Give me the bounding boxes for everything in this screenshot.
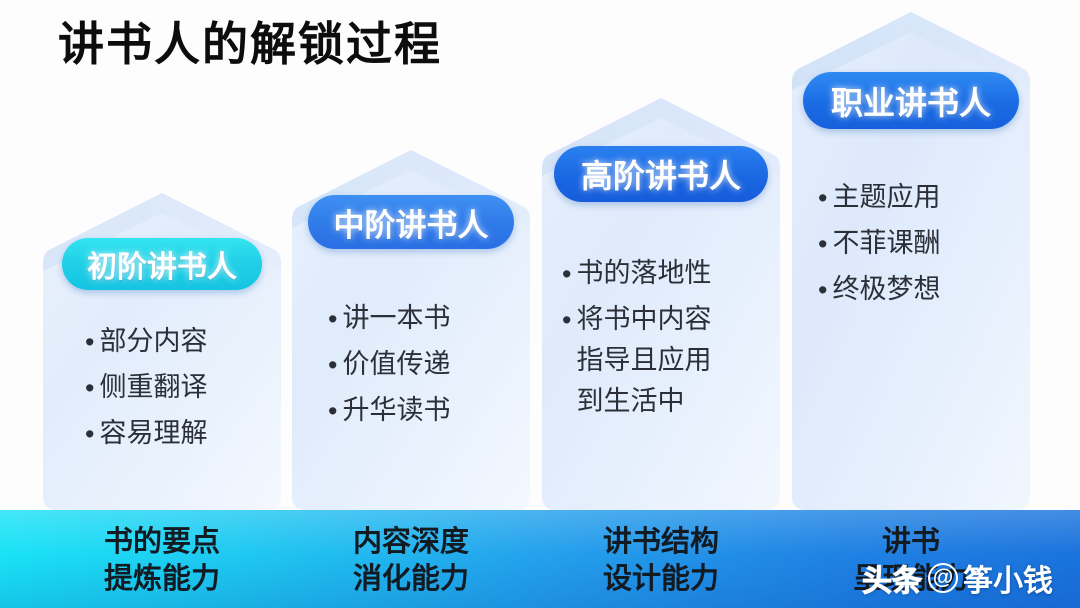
pillar-bullets-2: • 讲一本书 • 价值传递 • 升华读书	[292, 298, 530, 436]
pillar-column-4: 职业讲书人 • 主题应用 • 不菲课酬 • 终极梦想	[792, 12, 1030, 510]
pillar-column-3: 高阶讲书人 • 书的落地性 • 将书中内容 指导且应用 到生活中	[542, 98, 780, 510]
bullet-marker-icon: •	[85, 368, 94, 409]
bullet-text: 讲一本书	[342, 298, 514, 339]
bullet-text: 终极梦想	[832, 269, 1018, 310]
bullet-marker-icon: •	[562, 300, 571, 341]
pillar-badge-label-3: 高阶讲书人	[581, 151, 741, 197]
footer-line-2: 提炼能力	[37, 561, 287, 598]
pillar-badge-label-1: 初阶讲书人	[87, 242, 237, 286]
bullet-text: 升华读书	[342, 390, 514, 431]
pillar-badge-2[interactable]: 中阶讲书人	[308, 195, 514, 249]
list-item: • 终极梦想	[818, 269, 1018, 311]
pillar-badge-4[interactable]: 职业讲书人	[803, 72, 1019, 129]
bullet-text: 不菲课酬	[832, 223, 1018, 264]
toutiao-logo-icon: 头条	[862, 556, 922, 600]
pillar-badge-label-2: 中阶讲书人	[334, 200, 489, 245]
bullet-marker-icon: •	[818, 224, 827, 265]
list-item: • 书的落地性	[562, 253, 770, 295]
list-item: • 讲一本书	[328, 298, 514, 340]
footer-line-1: 书的要点	[37, 524, 287, 561]
footer-line-2: 消化能力	[286, 561, 536, 598]
bullet-text: 价值传递	[342, 344, 514, 385]
pillar-column-1: 初阶讲书人 • 部分内容 • 侧重翻译 • 容易理解	[43, 193, 281, 510]
footer-cell-3: 讲书结构 设计能力	[536, 524, 786, 597]
list-item: • 侧重翻译	[85, 367, 265, 409]
list-item: • 将书中内容 指导且应用 到生活中	[562, 299, 770, 422]
footer-line-1: 讲书结构	[536, 524, 786, 561]
list-item: • 价值传递	[328, 344, 514, 386]
pillar-bullets-4: • 主题应用 • 不菲课酬 • 终极梦想	[792, 177, 1030, 315]
list-item: • 容易理解	[85, 413, 265, 455]
bullet-marker-icon: •	[818, 178, 827, 219]
pillar-badge-1[interactable]: 初阶讲书人	[62, 238, 262, 290]
page-title: 讲书人的解锁过程	[58, 18, 442, 71]
bullet-text: 部分内容	[99, 321, 265, 362]
bullet-marker-icon: •	[85, 414, 94, 455]
bullet-marker-icon: •	[328, 345, 337, 386]
bullet-text: 侧重翻译	[99, 367, 265, 408]
at-symbol-icon: @	[928, 563, 958, 593]
bullet-text: 主题应用	[832, 177, 1018, 218]
bullet-marker-icon: •	[85, 322, 94, 363]
pillar-badge-3[interactable]: 高阶讲书人	[554, 146, 768, 202]
pillar-column-2: 中阶讲书人 • 讲一本书 • 价值传递 • 升华读书	[292, 150, 530, 510]
list-item: • 部分内容	[85, 321, 265, 363]
list-item: • 不菲课酬	[818, 223, 1018, 265]
pillar-bullets-3: • 书的落地性 • 将书中内容 指导且应用 到生活中	[542, 253, 780, 426]
footer-line-2: 设计能力	[536, 561, 786, 598]
slide-canvas: 讲书人的解锁过程	[0, 0, 1080, 608]
bullet-marker-icon: •	[562, 254, 571, 295]
bullet-marker-icon: •	[328, 299, 337, 340]
list-item: • 升华读书	[328, 390, 514, 432]
bullet-marker-icon: •	[328, 391, 337, 432]
bullet-marker-icon: •	[818, 270, 827, 311]
footer-cell-1: 书的要点 提炼能力	[37, 524, 287, 597]
bullet-text: 书的落地性	[576, 253, 770, 294]
pillar-badge-label-4: 职业讲书人	[831, 78, 991, 124]
bullet-text: 容易理解	[99, 413, 265, 454]
footer-line-1: 内容深度	[286, 524, 536, 561]
watermark-handle: 筝小钱	[963, 556, 1053, 600]
bullet-text: 将书中内容 指导且应用 到生活中	[576, 299, 770, 422]
list-item: • 主题应用	[818, 177, 1018, 219]
watermark: 头条 @ 筝小钱	[862, 556, 1053, 600]
pillar-bullets-1: • 部分内容 • 侧重翻译 • 容易理解	[43, 321, 281, 459]
footer-cell-2: 内容深度 消化能力	[286, 524, 536, 597]
